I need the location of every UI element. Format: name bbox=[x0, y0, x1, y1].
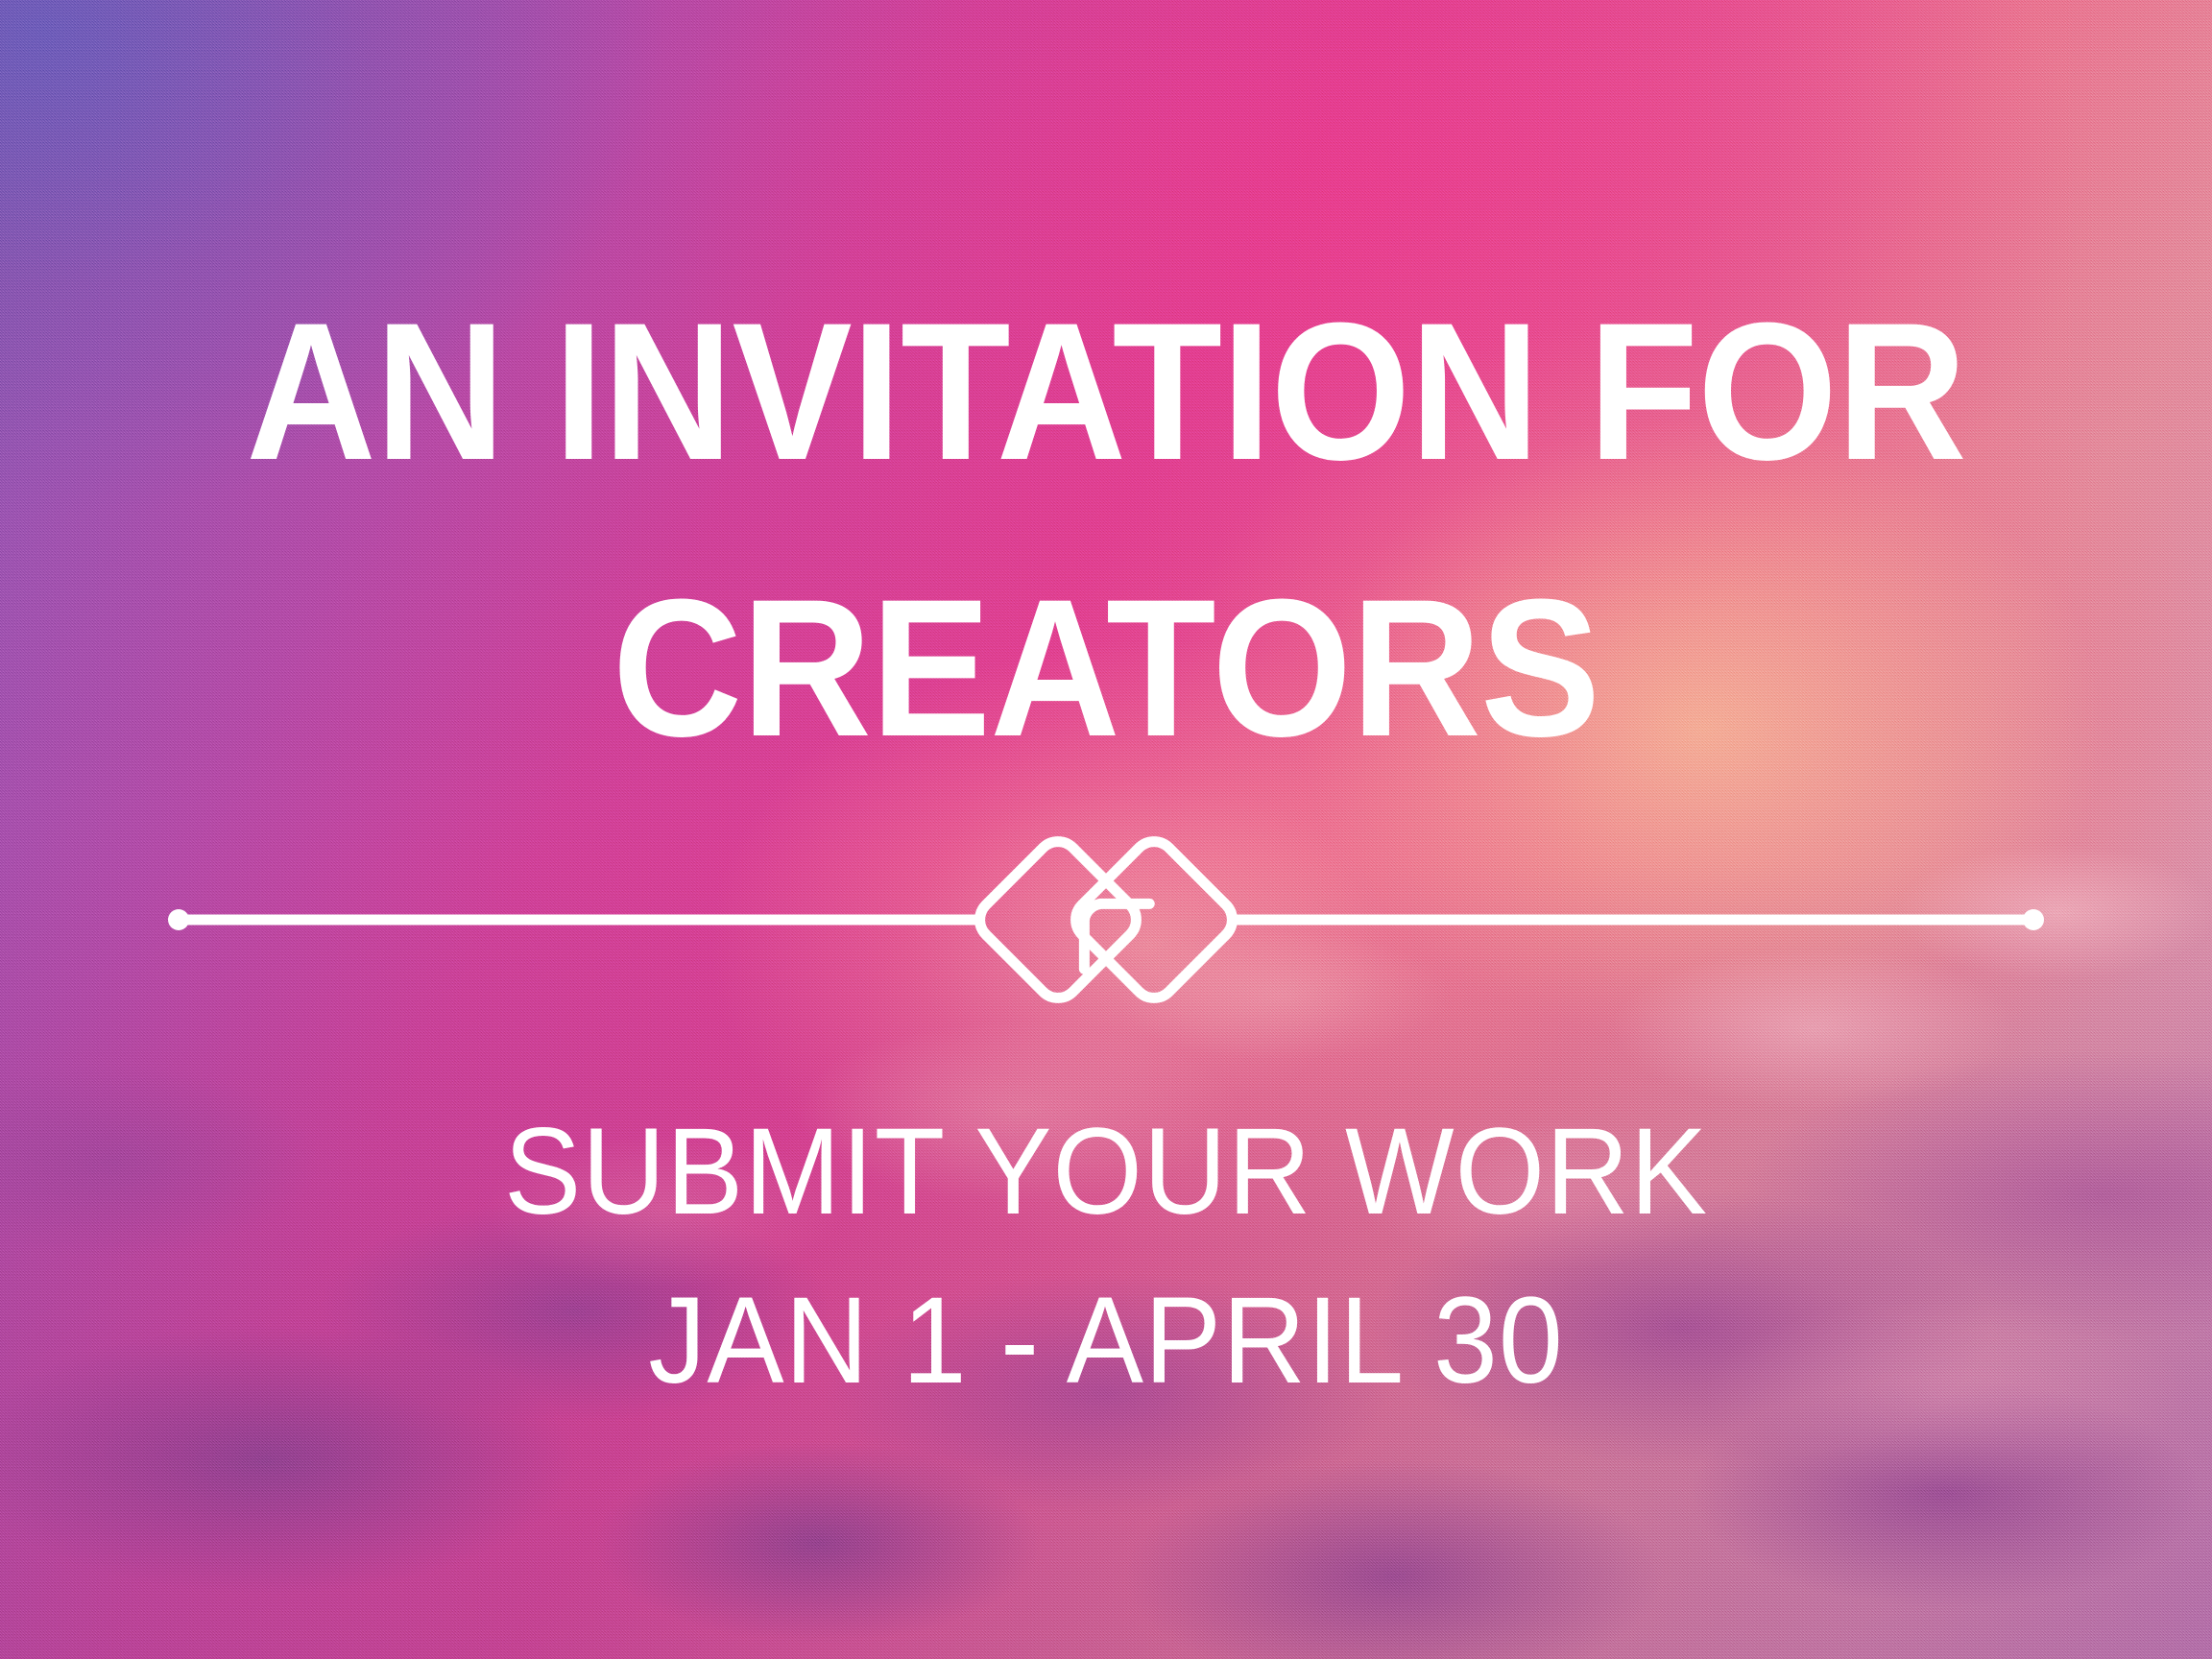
divider-graphic bbox=[154, 833, 2058, 1006]
page-title-line-2: CREATORS bbox=[88, 570, 2124, 766]
subtitle-line-1: SUBMIT YOUR WORK bbox=[66, 1111, 2146, 1234]
poster-content: AN INVITATION FOR CREATORS bbox=[0, 0, 2212, 1659]
divider-dot-left bbox=[168, 909, 189, 930]
divider-dot-right bbox=[2023, 909, 2044, 930]
subtitle-line-2: JAN 1 - APRIL 30 bbox=[66, 1280, 2146, 1403]
ornament-diamond-right bbox=[1067, 833, 1240, 1006]
ornament-diamond-left bbox=[971, 833, 1144, 1006]
invitation-poster: AN INVITATION FOR CREATORS bbox=[0, 0, 2212, 1659]
divider bbox=[154, 833, 2058, 1006]
page-title-line-1: AN INVITATION FOR bbox=[88, 294, 2124, 490]
